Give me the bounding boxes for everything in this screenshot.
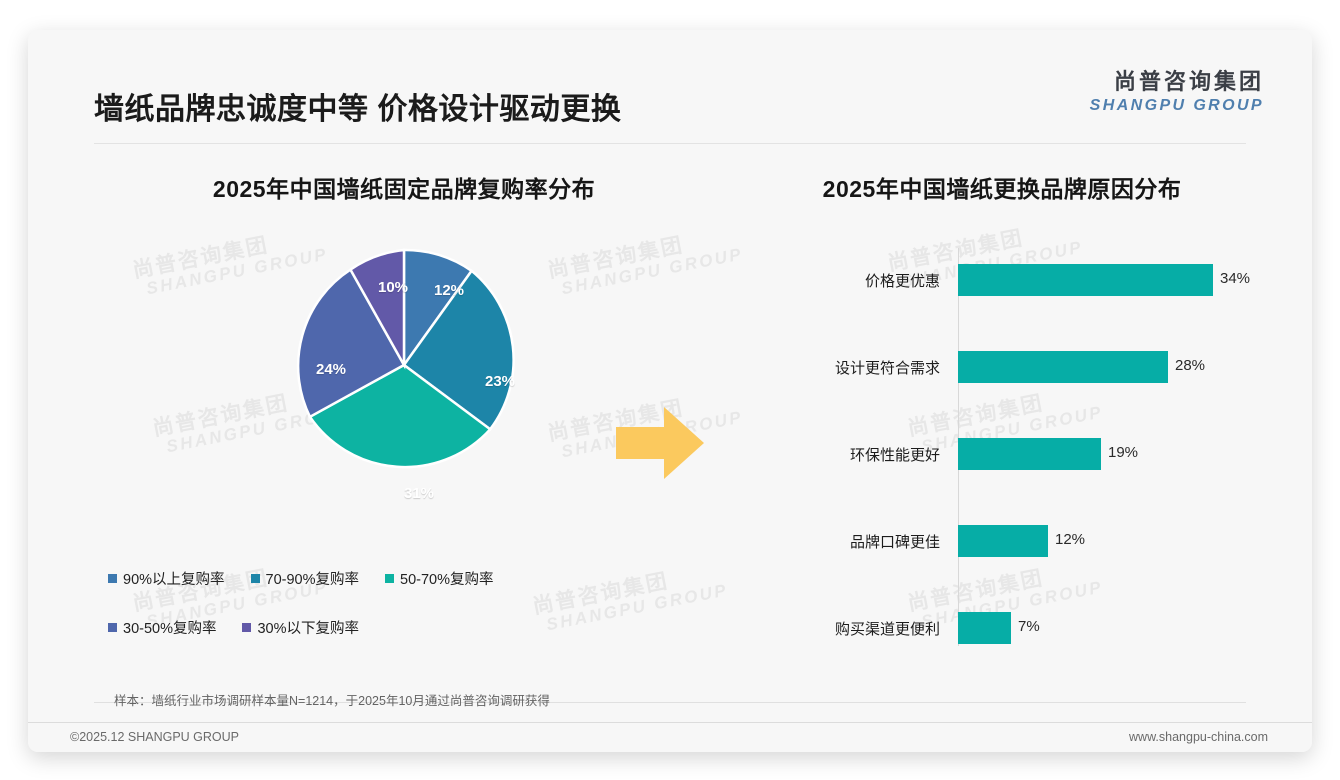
bar-label-3: 品牌口碑更佳 (728, 531, 950, 552)
right-arrow-icon (616, 405, 706, 481)
bar-fill-4 (958, 612, 1011, 644)
legend-swatch-icon (108, 574, 117, 583)
slide-footer: ©2025.12 SHANGPU GROUP www.shangpu-china… (28, 723, 1312, 752)
bar-label-0: 价格更优惠 (728, 270, 950, 291)
legend-item-3[interactable]: 30-50%复购率 (108, 617, 216, 638)
pie-label-4: 10% (378, 279, 408, 296)
pie-legend: 90%以上复购率 70-90%复购率 50-70%复购率 30-50%复购率 (108, 568, 668, 666)
brand-logo: 尚普咨询集团 SHANGPU GROUP (1090, 64, 1264, 115)
bar-label-1: 设计更符合需求 (728, 357, 950, 378)
bar-row-4[interactable]: 购买渠道更便利 7% (728, 612, 1248, 644)
pie-chart-panel: 2025年中国墙纸固定品牌复购率分布 12% 23% 31% 24% 10% (94, 170, 684, 680)
slide-card: 尚普咨询集团SHANGPU GROUP 尚普咨询集团SHANGPU GROUP … (28, 30, 1312, 752)
legend-item-4[interactable]: 30%以下复购率 (242, 617, 359, 638)
logo-cn-text: 尚普咨询集团 (1090, 64, 1264, 96)
pie-label-3: 24% (316, 361, 346, 378)
bar-fill-1 (958, 351, 1168, 383)
slide-header: 墙纸品牌忠诚度中等 价格设计驱动更换 尚普咨询集团 SHANGPU GROUP (28, 30, 1312, 126)
bar-label-4: 购买渠道更便利 (728, 618, 950, 639)
legend-swatch-icon (108, 623, 117, 632)
legend-row: 90%以上复购率 70-90%复购率 50-70%复购率 (108, 568, 668, 589)
bar-track: 28% (950, 351, 1248, 383)
page-title: 墙纸品牌忠诚度中等 价格设计驱动更换 (94, 84, 621, 128)
footer-copyright: ©2025.12 SHANGPU GROUP (70, 730, 239, 744)
legend-item-2[interactable]: 50-70%复购率 (385, 568, 493, 589)
bar-track: 7% (950, 612, 1248, 644)
bar-fill-3 (958, 525, 1048, 557)
bar-chart-area: 价格更优惠 34% 设计更符合需求 28% 环保性能更好 19% (728, 248, 1248, 663)
logo-en-text: SHANGPU GROUP (1090, 97, 1264, 115)
bar-row-3[interactable]: 品牌口碑更佳 12% (728, 525, 1248, 557)
footer-website[interactable]: www.shangpu-china.com (1129, 730, 1268, 744)
bar-row-2[interactable]: 环保性能更好 19% (728, 438, 1248, 470)
bar-value-4: 7% (1018, 618, 1040, 635)
legend-label-4: 30%以下复购率 (257, 617, 359, 638)
legend-row: 30-50%复购率 30%以下复购率 (108, 617, 668, 638)
bar-track: 12% (950, 525, 1248, 557)
legend-label-3: 30-50%复购率 (123, 617, 216, 638)
bar-chart-title: 2025年中国墙纸更换品牌原因分布 (728, 170, 1248, 204)
pie-label-0: 12% (434, 282, 464, 299)
legend-label-2: 50-70%复购率 (400, 568, 493, 589)
legend-label-1: 70-90%复购率 (266, 568, 359, 589)
bar-fill-2 (958, 438, 1101, 470)
header-divider (94, 143, 1246, 144)
bar-chart-panel: 2025年中国墙纸更换品牌原因分布 价格更优惠 34% 设计更符合需求 28% … (728, 170, 1248, 680)
bar-track: 34% (950, 264, 1248, 296)
bar-value-3: 12% (1055, 531, 1085, 548)
legend-item-0[interactable]: 90%以上复购率 (108, 568, 225, 589)
source-note: 样本：墙纸行业市场调研样本量N=1214，于2025年10月通过尚普咨询调研获得 (114, 690, 550, 709)
bar-value-2: 19% (1108, 444, 1138, 461)
bar-value-0: 34% (1220, 270, 1250, 287)
legend-swatch-icon (385, 574, 394, 583)
legend-label-0: 90%以上复购率 (123, 568, 225, 589)
bar-value-1: 28% (1175, 357, 1205, 374)
bar-track: 19% (950, 438, 1248, 470)
legend-swatch-icon (242, 623, 251, 632)
pie-chart-title: 2025年中国墙纸固定品牌复购率分布 (94, 170, 684, 204)
bar-row-1[interactable]: 设计更符合需求 28% (728, 351, 1248, 383)
pie-chart-area: 12% 23% 31% 24% 10% (94, 245, 684, 545)
pie-label-2: 31% (404, 485, 434, 502)
bar-fill-0 (958, 264, 1213, 296)
bar-row-0[interactable]: 价格更优惠 34% (728, 264, 1248, 296)
legend-swatch-icon (251, 574, 260, 583)
bar-label-2: 环保性能更好 (728, 444, 950, 465)
pie-label-1: 23% (485, 373, 515, 390)
legend-item-1[interactable]: 70-90%复购率 (251, 568, 359, 589)
